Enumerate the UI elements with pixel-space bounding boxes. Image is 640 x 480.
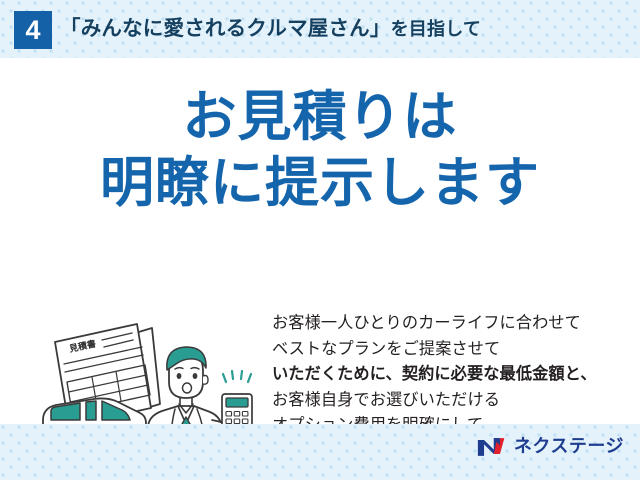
headline-line-2: 明瞭に提示します xyxy=(0,150,640,216)
header-title-main: 「みんなに愛されるクルマ屋さん」 xyxy=(60,17,391,40)
body-line: お客様自身でお選びいただける xyxy=(272,387,632,413)
main-content: お見積りは 明瞭に提示します お客様一人ひとりのカーライフに合わせて ベストなプ… xyxy=(0,58,640,424)
step-number-text: 4 xyxy=(25,17,40,44)
step-number-badge: 4 xyxy=(14,11,52,49)
body-line: ベストなプランをご提案させて xyxy=(272,336,632,362)
header-title: 「みんなに愛されるクルマ屋さん」を目指して xyxy=(60,13,481,45)
headline-line-1: お見積りは xyxy=(0,84,640,150)
brand-logo-text: ネクステージ xyxy=(514,436,624,458)
headline: お見積りは 明瞭に提示します xyxy=(0,84,640,216)
body-line: お客様一人ひとりのカーライフに合わせて xyxy=(272,310,632,336)
brand-logo: ネクステージ xyxy=(477,436,624,458)
header-band: 4 「みんなに愛されるクルマ屋さん」を目指して xyxy=(0,0,640,58)
header-title-suffix: を目指して xyxy=(391,19,481,39)
promo-banner: 4 「みんなに愛されるクルマ屋さん」を目指して お見積りは 明瞭に提示します お… xyxy=(0,0,640,480)
sparkle-icon xyxy=(223,371,251,382)
body-line: いただくために、契約に必要な最低金額と、 xyxy=(272,361,632,387)
nextage-n-logo-icon xyxy=(477,436,507,458)
footer-band: ネクステージ xyxy=(0,424,640,480)
